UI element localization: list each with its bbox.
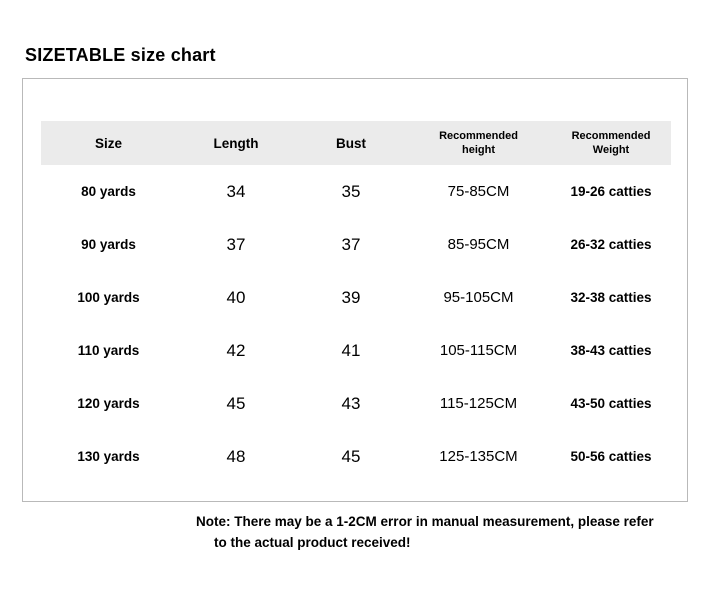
table-header: Size Length Bust Recommended height Reco… [41,121,671,165]
cell-length: 34 [176,165,296,218]
cell-bust: 39 [296,271,406,324]
cell-height: 125-135CM [406,430,551,483]
table-row: 130 yards 48 45 125-135CM 50-56 catties [41,430,671,483]
header-recommended-height: Recommended height [406,121,551,165]
header-recommended-weight: Recommended Weight [551,121,671,165]
cell-bust: 41 [296,324,406,377]
table-body: 80 yards 34 35 75-85CM 19-26 catties 90 … [41,165,671,483]
table-row: 100 yards 40 39 95-105CM 32-38 catties [41,271,671,324]
header-size: Size [41,121,176,165]
cell-height: 115-125CM [406,377,551,430]
table-header-row: Size Length Bust Recommended height Reco… [41,121,671,165]
header-length: Length [176,121,296,165]
cell-weight: 43-50 catties [551,377,671,430]
header-bust: Bust [296,121,406,165]
measurement-note-line1: Note: There may be a 1-2CM error in manu… [196,514,654,529]
cell-weight: 38-43 catties [551,324,671,377]
cell-length: 40 [176,271,296,324]
cell-size: 100 yards [41,271,176,324]
page-title: SIZETABLE size chart [25,45,216,66]
cell-bust: 43 [296,377,406,430]
measurement-note: Note: There may be a 1-2CM error in manu… [196,511,696,553]
cell-height: 85-95CM [406,218,551,271]
table-row: 80 yards 34 35 75-85CM 19-26 catties [41,165,671,218]
table-row: 120 yards 45 43 115-125CM 43-50 catties [41,377,671,430]
size-chart-page: SIZETABLE size chart Size Length Bust Re… [0,0,710,597]
header-recommended-height-line1: Recommended [439,130,518,142]
header-recommended-weight-line1: Recommended [572,130,651,142]
cell-bust: 35 [296,165,406,218]
cell-weight: 26-32 catties [551,218,671,271]
cell-size: 120 yards [41,377,176,430]
cell-size: 80 yards [41,165,176,218]
cell-length: 37 [176,218,296,271]
cell-bust: 45 [296,430,406,483]
cell-size: 130 yards [41,430,176,483]
size-table: Size Length Bust Recommended height Reco… [41,121,671,483]
cell-height: 75-85CM [406,165,551,218]
cell-length: 45 [176,377,296,430]
header-recommended-weight-line2: Weight [593,144,629,156]
table-row: 90 yards 37 37 85-95CM 26-32 catties [41,218,671,271]
cell-length: 42 [176,324,296,377]
cell-height: 105-115CM [406,324,551,377]
cell-weight: 50-56 catties [551,430,671,483]
table-row: 110 yards 42 41 105-115CM 38-43 catties [41,324,671,377]
cell-size: 90 yards [41,218,176,271]
measurement-note-line2: to the actual product received! [196,532,696,553]
header-recommended-height-line2: height [462,144,495,156]
cell-weight: 32-38 catties [551,271,671,324]
cell-weight: 19-26 catties [551,165,671,218]
cell-height: 95-105CM [406,271,551,324]
cell-length: 48 [176,430,296,483]
cell-size: 110 yards [41,324,176,377]
cell-bust: 37 [296,218,406,271]
